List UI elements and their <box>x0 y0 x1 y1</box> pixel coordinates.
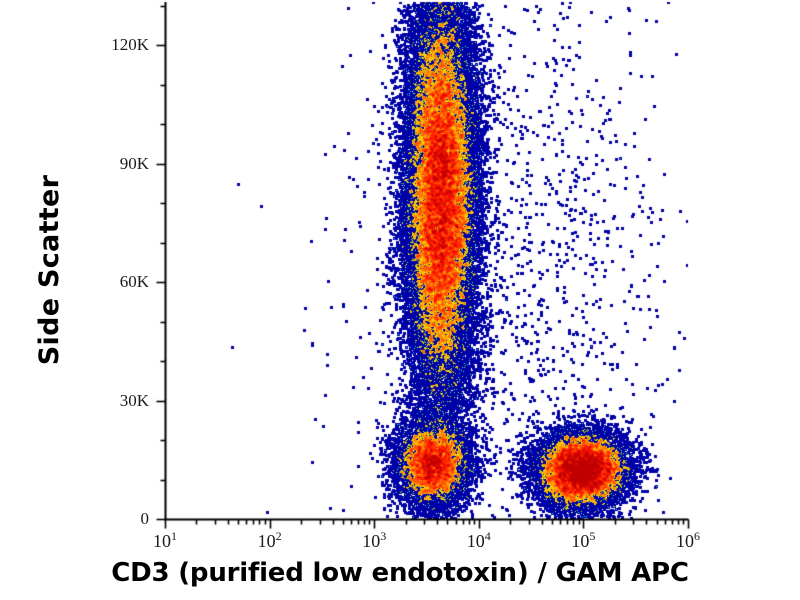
x-axis-title: CD3 (purified low endotoxin) / GAM APC <box>0 558 800 588</box>
y-tick-label: 90K <box>85 154 149 174</box>
x-tick-label: 103 <box>344 531 404 552</box>
y-tick-label: 60K <box>85 272 149 292</box>
x-tick-label: 106 <box>658 531 718 552</box>
x-tick-label: 104 <box>449 531 509 552</box>
y-tick-label: 30K <box>85 391 149 411</box>
y-tick-label: 0 <box>85 509 149 529</box>
y-tick-label: 120K <box>85 35 149 55</box>
x-tick-label: 105 <box>553 531 613 552</box>
y-axis-title: Side Scatter <box>30 130 70 410</box>
flow-cytometry-figure: Side Scatter CD3 (purified low endotoxin… <box>0 0 800 600</box>
x-tick-label: 102 <box>240 531 300 552</box>
x-tick-label: 101 <box>135 531 195 552</box>
